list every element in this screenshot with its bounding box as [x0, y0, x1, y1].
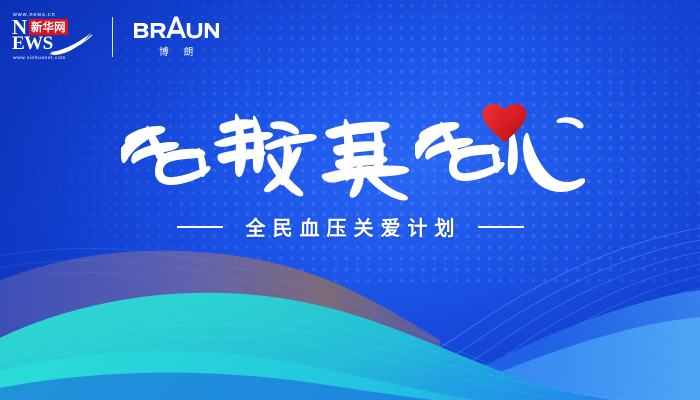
- braun-chinese-name: 博 朗: [133, 44, 219, 58]
- promo-banner: www.news.cn N EWS 新华网 www.xinhuanet.com: [0, 0, 700, 400]
- subtitle-rule-right: [478, 226, 524, 228]
- xinhua-net-logo[interactable]: www.news.cn N EWS 新华网 www.xinhuanet.com: [12, 12, 90, 62]
- braun-logo[interactable]: 博 朗: [133, 16, 219, 58]
- xinhua-wordmark: N EWS 新华网: [12, 19, 90, 55]
- subtitle-row: 全民血压关爱计划: [0, 212, 700, 241]
- xinhua-bottom-url: www.xinhuanet.com: [13, 56, 89, 62]
- wave-decoration: [0, 220, 700, 400]
- heart-icon: [482, 104, 526, 143]
- main-title-calligraphy: [115, 96, 585, 204]
- braun-wordmark: [133, 16, 219, 40]
- xinhua-letter-ews: EWS: [12, 34, 53, 53]
- banner-header: www.news.cn N EWS 新华网 www.xinhuanet.com: [0, 0, 219, 74]
- xinhua-chinese-name: 新华网: [31, 21, 66, 34]
- subtitle-rule-left: [177, 226, 223, 228]
- braun-wordmark-icon: [133, 16, 219, 42]
- subtitle-text: 全民血压关爱计划: [239, 212, 462, 241]
- xinhua-swoosh-icon: [50, 32, 92, 56]
- main-title: [0, 96, 700, 206]
- xinhua-chinese-badge: 新华网: [29, 19, 68, 35]
- logo-divider: [112, 17, 113, 57]
